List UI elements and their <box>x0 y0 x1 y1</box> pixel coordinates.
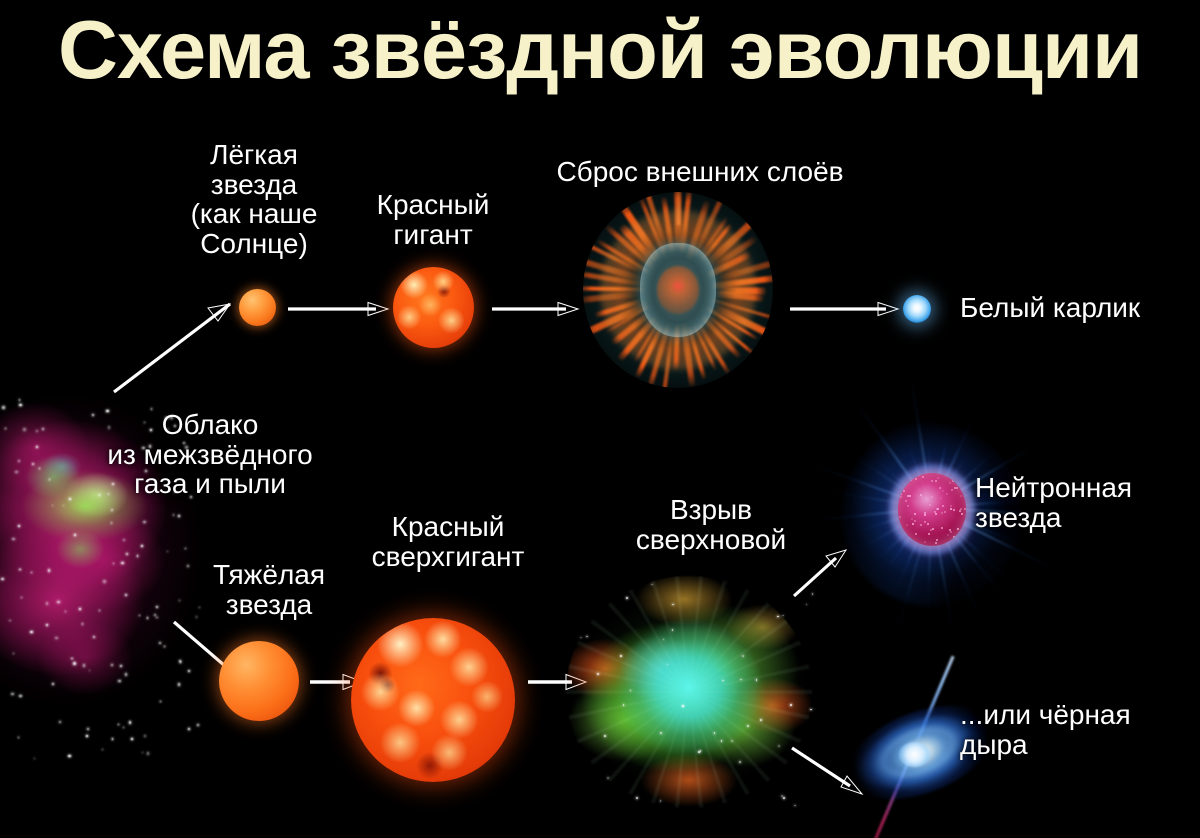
red-supergiant-sphere <box>351 618 515 782</box>
arrow-cloud-to-light-star <box>108 288 248 398</box>
arrow-red-giant-to-planetary-nebula <box>492 296 582 322</box>
planetary-nebula-core <box>657 266 699 313</box>
arrow-planetary-nebula-to-white-dwarf <box>790 296 902 322</box>
planetary-nebula-eskimo <box>583 192 773 388</box>
planetary-nebula-jet-spike <box>677 192 680 225</box>
label-light-star: Лёгкая звезда (как наше Солнце) <box>140 140 368 259</box>
label-red-giant: Красный гигант <box>345 190 521 249</box>
supernova-remnant <box>566 576 812 808</box>
label-shedding-outer-layers: Сброс внешних слоёв <box>500 157 900 187</box>
neutron-star-core <box>898 473 966 546</box>
label-neutron-star: Нейтронная звезда <box>975 473 1200 532</box>
stellar-evolution-diagram: Схема звёздной эволюции Лёгкая звезда (к… <box>0 0 1200 838</box>
label-black-hole: ...или чёрная дыра <box>960 700 1200 759</box>
supernova-remnant-filaments <box>566 576 812 808</box>
arrow-light-star-to-red-giant <box>288 296 392 322</box>
black-hole-core-glow <box>899 742 930 767</box>
label-red-supergiant: Красный сверхгигант <box>330 512 566 571</box>
neutron-star-core-texture <box>898 473 966 546</box>
label-white-dwarf: Белый карлик <box>960 293 1200 323</box>
heavy-star-sphere <box>219 641 299 721</box>
label-interstellar-cloud: Облако из межзвёдного газа и пыли <box>60 410 360 499</box>
page-title: Схема звёздной эволюции <box>0 8 1200 91</box>
white-dwarf-sphere <box>903 295 931 323</box>
red-giant-sphere <box>393 267 474 348</box>
